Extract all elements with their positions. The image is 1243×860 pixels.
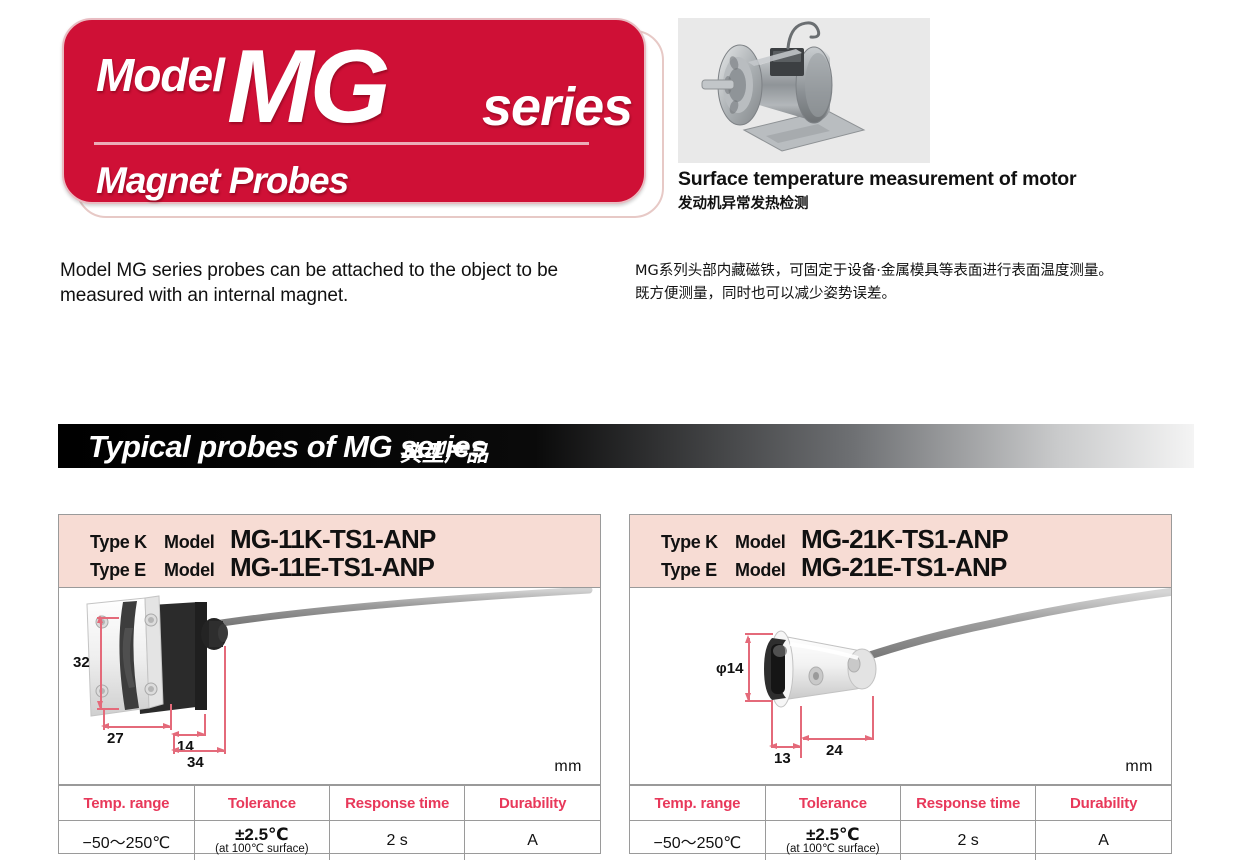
spec-value-tolerance: ±2.5℃ (at 100℃ surface)	[194, 821, 329, 860]
tolerance-condition: (at 100℃ surface)	[196, 843, 328, 856]
spec-table-mg11: Temp. range Tolerance Response time Dura…	[59, 785, 600, 860]
dim-tick-32-top	[97, 617, 119, 619]
tolerance-main-2: ±2.5℃	[767, 826, 899, 843]
spec-header-response-time: Response time	[330, 786, 465, 821]
electric-motor-photo	[678, 18, 930, 163]
model-code-k-2: MG-21K-TS1-ANP	[801, 524, 1008, 555]
description-chinese-line2: 既方便测量，同时也可以减少姿势误差。	[635, 283, 1195, 306]
dim-arrow-24-left	[801, 735, 809, 741]
dim-tick-34-right	[224, 646, 226, 754]
unit-label-mm-left: mm	[554, 758, 582, 776]
dim-tick-24-right	[872, 696, 874, 740]
model-code-e-2: MG-21E-TS1-ANP	[801, 552, 1007, 583]
panel-header-mg11: Type K Model MG-11K-TS1-ANP Type E Model…	[59, 515, 600, 588]
spec-value-response-time-2: 2 s	[901, 821, 1036, 860]
probe-drawing-mg21	[630, 588, 1171, 784]
dim-tick-27-left	[103, 708, 105, 730]
model-line-type-k-2: Type K Model MG-21K-TS1-ANP	[661, 524, 1171, 552]
spec-value-row-2: −50〜250℃ ±2.5℃ (at 100℃ surface) 2 s A	[630, 821, 1171, 860]
spec-value-response-time: 2 s	[330, 821, 465, 860]
spec-header-temp-range: Temp. range	[59, 786, 194, 821]
model-label-k-2: Model	[735, 532, 801, 553]
spec-header-row-2: Temp. range Tolerance Response time Dura…	[630, 786, 1171, 821]
logo-red-plate: Model MG series Magnet Probes	[62, 18, 646, 204]
dim-value-24: 24	[826, 742, 843, 759]
spec-header-tolerance-2: Tolerance	[765, 786, 900, 821]
description-chinese: MG系列头部内藏磁铁，可固定于设备·金属模具等表面进行表面温度测量。 既方便测量…	[635, 260, 1195, 306]
spec-header-response-time-2: Response time	[901, 786, 1036, 821]
dim-line-27	[103, 726, 171, 728]
spec-header-durability-2: Durability	[1036, 786, 1171, 821]
unit-label-mm-right: mm	[1125, 758, 1153, 776]
type-e-label-2: Type E	[661, 560, 735, 581]
dim-value-13: 13	[774, 750, 791, 767]
tolerance-main: ±2.5℃	[196, 826, 328, 843]
model-code-k: MG-11K-TS1-ANP	[230, 524, 436, 555]
section-banner: Typical probes of MG series 典型产品	[58, 424, 1194, 468]
probe-figure-mg11: 32 27 14 34 mm	[59, 588, 600, 785]
dim-line-32	[100, 618, 102, 708]
model-code-e: MG-11E-TS1-ANP	[230, 552, 434, 583]
spec-value-durability-2: A	[1036, 821, 1171, 860]
model-label-k: Model	[164, 532, 230, 553]
type-e-label: Type E	[90, 560, 164, 581]
dim-tick-34-left	[173, 734, 175, 754]
model-line-type-k: Type K Model MG-11K-TS1-ANP	[90, 524, 600, 552]
spec-header-durability: Durability	[465, 786, 600, 821]
dim-value-32: 32	[73, 654, 90, 671]
banner-title-chinese: 典型产品	[400, 436, 488, 468]
model-line-type-e: Type E Model MG-11E-TS1-ANP	[90, 552, 600, 580]
dim-value-14: 14	[177, 738, 194, 755]
spec-table-mg21: Temp. range Tolerance Response time Dura…	[630, 785, 1171, 860]
spec-header-row: Temp. range Tolerance Response time Dura…	[59, 786, 600, 821]
product-panel-mg21: Type K Model MG-21K-TS1-ANP Type E Model…	[629, 514, 1172, 854]
dim-tick-32-bottom	[97, 708, 119, 710]
description-chinese-line1: MG系列头部内藏磁铁，可固定于设备·金属模具等表面进行表面温度测量。	[635, 260, 1195, 283]
dim-value-34: 34	[187, 754, 204, 771]
type-k-label-2: Type K	[661, 532, 735, 553]
spec-value-durability: A	[465, 821, 600, 860]
model-label-e-2: Model	[735, 560, 801, 581]
panel-header-mg21: Type K Model MG-21K-TS1-ANP Type E Model…	[630, 515, 1171, 588]
product-panel-mg11: Type K Model MG-11K-TS1-ANP Type E Model…	[58, 514, 601, 854]
logo-model-word: Model	[96, 48, 224, 102]
dim-tick-13-right	[800, 706, 802, 758]
spec-header-tolerance: Tolerance	[194, 786, 329, 821]
dim-line-phi14	[748, 638, 750, 700]
logo-mg-word: MG	[227, 28, 387, 147]
dim-value-phi14: φ14	[716, 660, 743, 677]
tolerance-condition-2: (at 100℃ surface)	[767, 843, 899, 856]
spec-header-temp-range-2: Temp. range	[630, 786, 765, 821]
dim-line-24	[803, 738, 873, 740]
description-english: Model MG series probes can be attached t…	[60, 258, 600, 308]
motor-caption-chinese: 发动机异常发热检测	[678, 192, 1198, 213]
type-k-label: Type K	[90, 532, 164, 553]
dim-tick-27-right	[170, 704, 172, 730]
motor-caption-english: Surface temperature measurement of motor	[678, 168, 1198, 191]
dim-tick-13-left	[771, 700, 773, 748]
logo-divider	[94, 142, 589, 145]
dim-arrow-phi14-top	[745, 635, 751, 643]
spec-value-temp-range: −50〜250℃	[59, 821, 194, 860]
dim-tick-phi14-bottom	[745, 700, 773, 702]
logo-subtitle: Magnet Probes	[96, 160, 348, 202]
model-label-e: Model	[164, 560, 230, 581]
probe-figure-mg21: φ14 13 24 mm	[630, 588, 1171, 785]
spec-value-row: −50〜250℃ ±2.5℃ (at 100℃ surface) 2 s A	[59, 821, 600, 860]
spec-value-tolerance-2: ±2.5℃ (at 100℃ surface)	[765, 821, 900, 860]
model-line-type-e-2: Type E Model MG-21E-TS1-ANP	[661, 552, 1171, 580]
mg-series-logo: Model MG series Magnet Probes	[62, 18, 662, 214]
dim-tick-phi14-top	[745, 633, 773, 635]
dim-tick-14-right	[204, 714, 206, 736]
probe-drawing-mg11	[59, 588, 600, 784]
spec-value-temp-range-2: −50〜250℃	[630, 821, 765, 860]
dim-value-27: 27	[107, 730, 124, 747]
logo-series-word: series	[482, 76, 632, 138]
